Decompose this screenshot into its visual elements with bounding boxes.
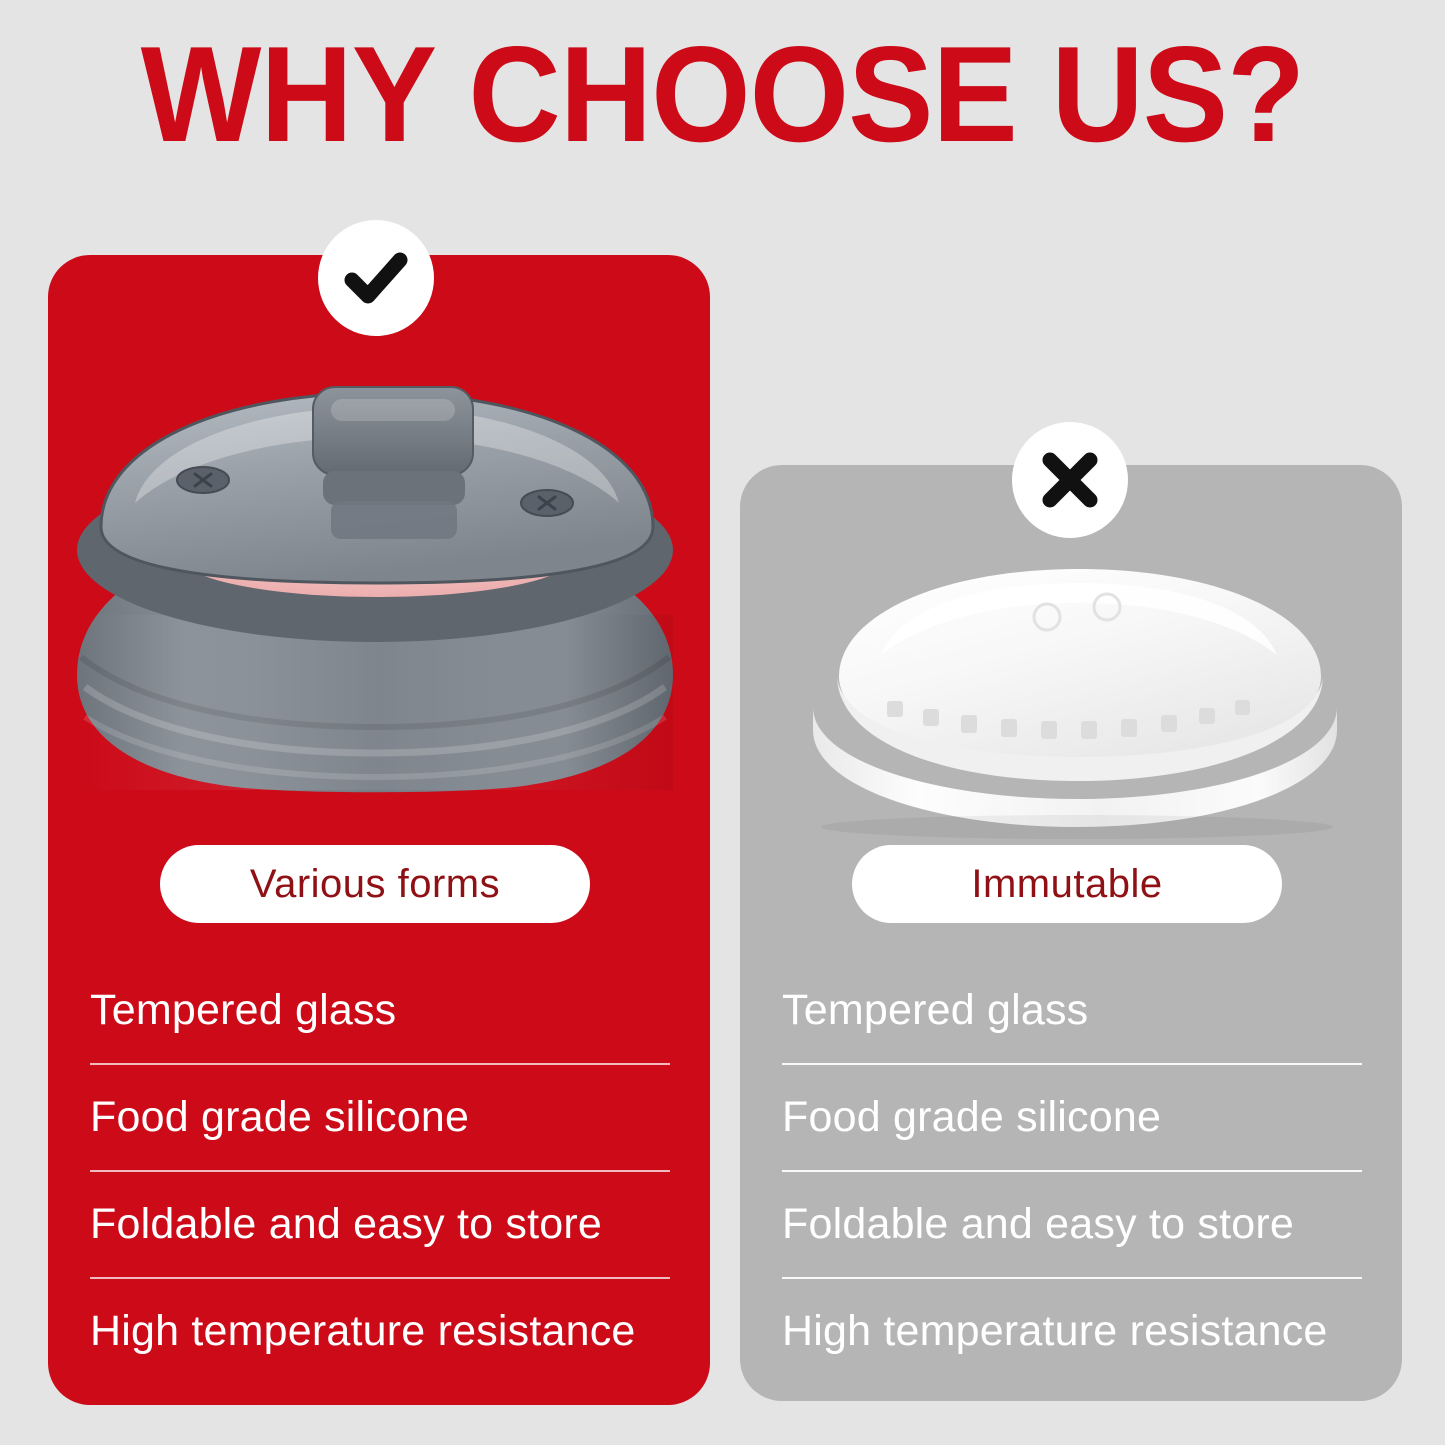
feature-row: Foldable and easy to store <box>90 1172 670 1277</box>
check-icon <box>337 239 415 317</box>
feature-list-bad: Tempered glass Food grade silicone Folda… <box>782 958 1362 1384</box>
label-pill-good-text: Various forms <box>250 862 500 907</box>
feature-list-good: Tempered glass Food grade silicone Folda… <box>90 958 670 1384</box>
feature-row: Foldable and easy to store <box>782 1172 1362 1277</box>
collapsible-silicone-microwave-cover-image <box>55 375 695 805</box>
feature-text: Foldable and easy to store <box>782 1200 1294 1249</box>
feature-text: Tempered glass <box>782 986 1088 1035</box>
feature-text: High temperature resistance <box>90 1307 636 1356</box>
feature-row: Food grade silicone <box>782 1065 1362 1170</box>
cross-icon <box>1031 441 1109 519</box>
feature-row: High temperature resistance <box>782 1279 1362 1384</box>
feature-text: Food grade silicone <box>782 1093 1161 1142</box>
check-badge <box>318 220 434 336</box>
feature-text: Tempered glass <box>90 986 396 1035</box>
feature-row: Food grade silicone <box>90 1065 670 1170</box>
label-pill-bad: Immutable <box>852 845 1282 923</box>
feature-row: Tempered glass <box>782 958 1362 1063</box>
rigid-plastic-microwave-cover-image <box>795 555 1355 845</box>
feature-text: Foldable and easy to store <box>90 1200 602 1249</box>
cross-badge <box>1012 422 1128 538</box>
feature-row: Tempered glass <box>90 958 670 1063</box>
feature-text: High temperature resistance <box>782 1307 1328 1356</box>
feature-row: High temperature resistance <box>90 1279 670 1384</box>
label-pill-bad-text: Immutable <box>971 862 1162 907</box>
label-pill-good: Various forms <box>160 845 590 923</box>
feature-text: Food grade silicone <box>90 1093 469 1142</box>
page-title: WHY CHOOSE US? <box>43 26 1401 162</box>
